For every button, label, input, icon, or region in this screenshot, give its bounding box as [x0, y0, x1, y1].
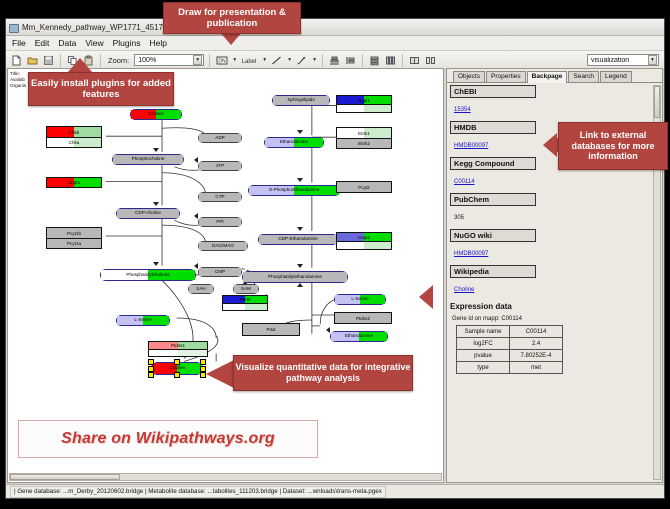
toolbar-separator-5	[362, 54, 363, 67]
gene-label: Pisd	[267, 327, 276, 332]
node-label: O-Phosphoethanolamine	[269, 188, 320, 193]
database-value-row: 15354	[450, 98, 652, 119]
gene-node-ptdss2[interactable]: Ptdss2	[334, 312, 392, 324]
gene-node-chkb_chka[interactable]: ChkbChka	[46, 126, 102, 148]
database-value-row: Choline	[450, 278, 652, 299]
node-label: DAG/MAG	[212, 244, 234, 249]
metabolite-node-o_phosphoethanolamine[interactable]: O-Phosphoethanolamine	[248, 185, 340, 196]
metabolite-node-atp[interactable]: ATP	[198, 161, 242, 171]
metabolite-node-sam[interactable]: SAM	[233, 284, 259, 294]
menu-item-help[interactable]: Help	[150, 38, 167, 48]
line-tool-icon[interactable]	[270, 54, 283, 67]
toolbar-separator-6	[402, 54, 403, 67]
tab-objects[interactable]: Objects	[453, 71, 485, 82]
node-label: ADP	[215, 136, 224, 141]
gene-row: Etnk2	[337, 138, 391, 148]
expression-value: C00114	[510, 326, 563, 338]
gene-node-ptdss1[interactable]: Ptdss1	[148, 341, 208, 357]
gene-label: Cept1	[358, 235, 370, 240]
metabolite-node-phosphatidylethanolamine[interactable]: Phosphatidylethanolamine	[242, 271, 348, 283]
table-row: typemet	[457, 362, 563, 374]
node-label: CDP-choline	[135, 211, 161, 216]
gene-row	[337, 104, 391, 112]
database-link-list: ChEBI15354HMDBHMDB00097Kegg CompoundC001…	[450, 85, 652, 299]
gene-label: Chpt1	[68, 180, 80, 185]
database-name: HMDB	[450, 121, 536, 134]
node-label: Ethanolamine	[345, 334, 373, 339]
gene-fill-left	[337, 105, 364, 112]
metabolite-node-cdp_ethanolamine[interactable]: CDP-Ethanolamine	[258, 234, 338, 245]
side-panel-tabs: ObjectsPropertiesBackpageSearchLegend	[447, 69, 662, 83]
node-label: Choline	[169, 366, 185, 371]
arrowhead-left-2	[194, 213, 198, 219]
svg-text:Label: Label	[242, 59, 257, 65]
gene-row: Ptdss2	[335, 313, 391, 323]
database-name: PubChem	[450, 193, 536, 206]
database-name: NuGO wiki	[450, 229, 536, 242]
node-label: Sphingolipids	[287, 98, 314, 103]
annotation-plugins-pointer	[68, 58, 92, 72]
gene-fill-right	[245, 304, 267, 310]
node-label: Phosphatidylcholines	[126, 273, 169, 278]
gene-label: Chkb	[69, 130, 80, 135]
menu-item-data[interactable]: Data	[58, 38, 76, 48]
expression-value: met	[510, 362, 563, 374]
toolbar-separator-1	[60, 54, 61, 67]
arrowhead-down-7	[297, 264, 303, 268]
gene-row: Sgpl1	[337, 96, 391, 104]
menu-item-view[interactable]: View	[85, 38, 103, 48]
database-name: Wikipedia	[450, 265, 536, 278]
menu-item-file[interactable]: File	[12, 38, 26, 48]
node-label: Phosphatidylethanolamine	[268, 275, 322, 280]
node-label: SAM	[241, 287, 251, 292]
metabolite-node-ethanolamine_2[interactable]: Ethanolamine	[330, 331, 388, 342]
gene-fill-left	[337, 242, 364, 249]
zoom-value: 100%	[138, 57, 193, 64]
selection-handle-1[interactable]	[174, 359, 180, 365]
metabolite-node-sphingolipids[interactable]: Sphingolipids	[272, 95, 330, 106]
database-value: 305	[450, 212, 464, 227]
gene-row: Pcyt1b	[47, 228, 101, 238]
database-value-row: 305	[450, 206, 652, 227]
database-link[interactable]: HMDB00097	[450, 248, 488, 263]
arrowhead-up-2	[297, 283, 303, 287]
metabolite-node-cdp_choline[interactable]: CDP-choline	[116, 208, 180, 219]
annotation-links-callout: Link to external databases for more info…	[558, 122, 668, 170]
annotation-links-pointer-2	[419, 285, 433, 309]
database-block-nugo-wiki: NuGO wikiHMDB00097	[450, 229, 652, 263]
table-row: pvalue7.80252E-4	[457, 350, 563, 362]
expression-key: log2FC	[457, 338, 510, 350]
gene-row: Chpt1	[47, 178, 101, 187]
toolbar-separator-3	[209, 54, 210, 67]
gene-row: Pcyt1a	[47, 238, 101, 248]
gene-row	[149, 349, 207, 356]
database-link[interactable]: Choline	[450, 284, 474, 299]
metabolite-node-sah[interactable]: SAH	[188, 284, 214, 294]
gene-row: Pcyt2	[337, 182, 391, 192]
node-label: SAH	[196, 287, 205, 292]
arrowhead-down-6	[297, 227, 303, 231]
table-row: log2FC2.4	[457, 338, 563, 350]
label-dropdown-icon[interactable]: ▼	[262, 57, 267, 63]
annotation-plugins-callout: Easily install plugins for added feature…	[28, 72, 174, 106]
database-block-wikipedia: WikipediaCholine	[450, 265, 652, 299]
tab-backpage[interactable]: Backpage	[527, 71, 568, 83]
arrowhead-down-4	[297, 130, 303, 134]
node-label: PPi	[216, 220, 223, 225]
interaction-tool-icon[interactable]	[295, 54, 308, 67]
visualization-combobox[interactable]: visualization ▼	[587, 54, 659, 66]
gene-label: Ptdss2	[356, 316, 370, 321]
status-bar-text: | Gene database: ...m_Derby_20120602.bri…	[10, 486, 386, 498]
gene-row: Ptdss1	[149, 342, 207, 349]
expression-key: type	[457, 362, 510, 374]
screenshot-root: Mm_Kennedy_pathway_WP1771_45176.gpml Fil…	[0, 0, 670, 509]
gene-label: Sgpl1	[358, 98, 370, 103]
gene-fill-right	[178, 350, 207, 356]
gene-node-chpt1[interactable]: Chpt1	[46, 177, 102, 188]
gene-row	[337, 241, 391, 249]
database-value-row: HMDB00097	[450, 242, 652, 263]
gene-node-cept1[interactable]: Cept1	[336, 232, 392, 250]
gene-fill-right	[364, 242, 391, 249]
gene-row: Cept1	[337, 233, 391, 241]
gene-label: Pemt	[240, 297, 251, 302]
database-value-row: C00114	[450, 170, 652, 191]
node-label: Choline	[148, 112, 164, 117]
canvas-horizontal-scrollbar[interactable]	[9, 473, 442, 481]
gene-row: Chkb	[47, 127, 101, 137]
arrowhead-left-5	[326, 327, 330, 333]
metabolite-node-choline_top[interactable]: Choline	[130, 109, 182, 120]
metabolite-node-l_serine_1[interactable]: L-Serine	[116, 315, 170, 326]
gene-node-pcyt1b_pcyt1a[interactable]: Pcyt1bPcyt1a	[46, 227, 102, 249]
selection-handle-6[interactable]	[174, 372, 180, 378]
database-name: Kegg Compound	[450, 157, 536, 170]
metabolite-node-ctp[interactable]: CTP	[198, 192, 242, 202]
database-block-chebi: ChEBI15354	[450, 85, 652, 119]
expression-data-heading: Expression data	[450, 302, 652, 311]
gene-row: Etnk1	[337, 128, 391, 138]
gene-node-pcyt2[interactable]: Pcyt2	[336, 181, 392, 193]
metabolite-node-l_serine_2[interactable]: L-Serine	[334, 294, 386, 305]
gene-row: Chka	[47, 137, 101, 147]
gene-label: Etnk1	[358, 131, 370, 136]
menu-bar: File Edit Data View Plugins Help	[6, 36, 664, 51]
pathvisio-app-icon	[9, 23, 18, 32]
arrowhead-down-2	[153, 202, 159, 206]
node-label: L-Serine	[351, 297, 368, 302]
canvas-scroll-thumb[interactable]	[10, 474, 120, 480]
tab-legend[interactable]: Legend	[600, 71, 632, 82]
node-label: ATP	[216, 164, 225, 169]
chevron-down-icon-visualization[interactable]: ▼	[648, 55, 657, 65]
annotation-visualize-callout: Visualize quantitative data for integrat…	[233, 355, 413, 391]
save-disk-icon[interactable]	[42, 54, 55, 67]
ungroup-tool-icon[interactable]	[424, 54, 437, 67]
expression-data-table: Sample nameC00114log2FC2.4pvalue7.80252E…	[456, 325, 563, 374]
tab-properties[interactable]: Properties	[486, 71, 526, 82]
node-label: CTP	[215, 195, 224, 200]
gene-node-sgpl1[interactable]: Sgpl1	[336, 95, 392, 113]
gene-row: Pemt	[223, 296, 267, 303]
gene-label: Pcyt1b	[67, 231, 81, 236]
database-name: ChEBI	[450, 85, 536, 98]
chevron-down-icon[interactable]: ▼	[193, 55, 202, 65]
zoom-combobox[interactable]: 100% ▼	[134, 54, 204, 66]
interaction-dropdown-icon[interactable]: ▼	[312, 57, 317, 63]
menu-item-edit[interactable]: Edit	[35, 38, 50, 48]
annotation-visualize-pointer	[206, 360, 234, 388]
stack-tool-icon[interactable]	[368, 54, 381, 67]
arrowhead-down-5	[297, 178, 303, 182]
gene-label: Etnk2	[358, 141, 370, 146]
tab-search[interactable]: Search	[568, 71, 599, 82]
group-tool-icon[interactable]	[408, 54, 421, 67]
selection-handle-0[interactable]	[148, 359, 154, 365]
gene-label: Pcyt2	[358, 185, 370, 190]
gene-fill-left	[223, 304, 245, 310]
metabolite-node-cmp[interactable]: CMP	[198, 267, 242, 277]
metabolite-node-ppi[interactable]: PPi	[198, 217, 242, 227]
arrowhead-down-1	[153, 148, 159, 152]
distribute-tool-icon[interactable]	[384, 54, 397, 67]
gene-node-pisd[interactable]: Pisd	[242, 323, 300, 336]
gene-row	[223, 303, 267, 310]
gene-node-pemt[interactable]: Pemt	[222, 295, 268, 311]
status-bar: | Gene database: ...m_Derby_20120602.bri…	[6, 484, 664, 498]
gene-node-etnk1_etnk2[interactable]: Etnk1Etnk2	[336, 127, 392, 149]
metabolite-node-dagmag[interactable]: DAG/MAG	[198, 241, 248, 251]
selection-handle-5[interactable]	[148, 372, 154, 378]
gene-label: Chka	[69, 140, 80, 145]
gene-fill-right	[364, 105, 391, 112]
metabolite-node-phosphatidylcholines[interactable]: Phosphatidylcholines	[100, 269, 196, 281]
datanode-dropdown-icon[interactable]: ▼	[232, 57, 237, 63]
anchor-tool-icon[interactable]	[344, 54, 357, 67]
database-link[interactable]: 15354	[450, 104, 471, 119]
zoom-label: Zoom:	[108, 56, 129, 65]
expression-value: 2.4	[510, 338, 563, 350]
annotation-share-text: Share on Wikipathways.org	[61, 430, 275, 448]
gene-id-label: Gene id on mapp: C00114	[450, 316, 652, 322]
node-label: L-Serine	[134, 318, 151, 323]
menu-item-plugins[interactable]: Plugins	[113, 38, 141, 48]
annotation-share-callout: Share on Wikipathways.org	[18, 420, 318, 458]
table-row: Sample nameC00114	[457, 326, 563, 338]
expression-value: 7.80252E-4	[510, 350, 563, 362]
line-dropdown-icon[interactable]: ▼	[287, 57, 292, 63]
node-label: CDP-Ethanolamine	[278, 237, 317, 242]
gene-label: Ptdss1	[171, 343, 185, 348]
label-tool-icon[interactable]: Label	[240, 54, 258, 67]
metabolite-node-adp[interactable]: ADP	[198, 133, 242, 143]
svg-text:DN: DN	[218, 58, 226, 64]
node-label: Ethanolamine	[280, 140, 308, 145]
title-bar: Mm_Kennedy_pathway_WP1771_45176.gpml	[6, 19, 664, 36]
database-block-pubchem: PubChem305	[450, 193, 652, 227]
side-panel-scroll-thumb[interactable]	[654, 86, 660, 118]
expression-key: Sample name	[457, 326, 510, 338]
arrowhead-down-3	[153, 262, 159, 266]
selection-handle-3[interactable]	[148, 366, 154, 372]
pathway-info-organism: Organis	[10, 83, 26, 89]
gene-fill-left	[149, 350, 178, 356]
gene-label: Pcyt1a	[67, 241, 81, 246]
node-label: CMP	[215, 270, 225, 275]
metabolite-node-ethanolamine[interactable]: Ethanolamine	[264, 137, 324, 148]
metabolite-node-phosphocholine[interactable]: Phosphocholine	[112, 154, 184, 165]
arrowhead-left-1	[194, 157, 198, 163]
annotation-draw-callout: Draw for presentation & publication	[163, 2, 301, 34]
toolbar-separator-4	[322, 54, 323, 67]
datanode-tool-icon[interactable]: DN	[215, 54, 228, 67]
database-link[interactable]: C00114	[450, 176, 475, 191]
visualization-value: visualization	[591, 57, 648, 64]
open-folder-icon[interactable]	[26, 54, 39, 67]
align-tool-icon[interactable]	[328, 54, 341, 67]
new-file-icon[interactable]	[10, 54, 23, 67]
gene-row: Pisd	[243, 324, 299, 335]
node-label: Phosphocholine	[132, 157, 165, 162]
toolbar-separator-2	[100, 54, 101, 67]
pathway-info-block: Title: Availab Organis	[10, 71, 26, 89]
database-link[interactable]: HMDB00097	[450, 140, 488, 155]
expression-key: pvalue	[457, 350, 510, 362]
